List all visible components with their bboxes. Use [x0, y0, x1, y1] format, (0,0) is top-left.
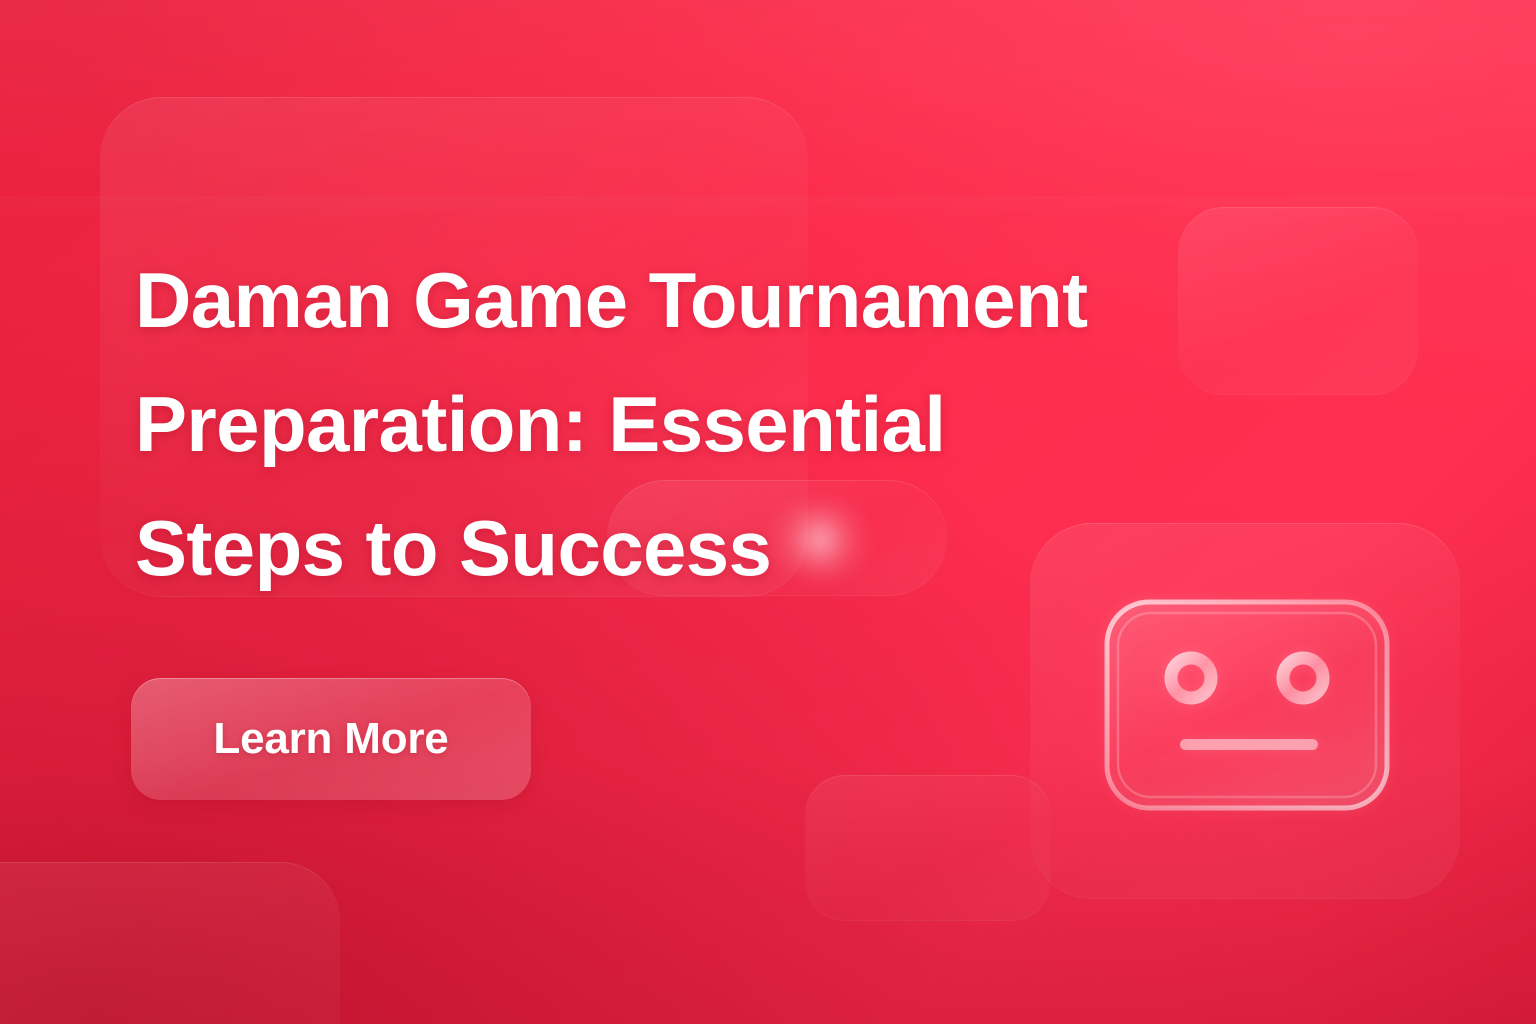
robot-face-icon — [1101, 596, 1393, 814]
page-title: Daman Game Tournament Preparation: Essen… — [135, 238, 1375, 610]
learn-more-label: Learn More — [213, 714, 448, 764]
learn-more-button[interactable]: Learn More — [131, 678, 531, 800]
hero-banner: Daman Game Tournament Preparation: Essen… — [0, 0, 1536, 1024]
bottom-center-glass-tile — [805, 775, 1051, 921]
bottom-left-glass-slab — [0, 862, 340, 1024]
top-light-band — [0, 196, 1536, 220]
